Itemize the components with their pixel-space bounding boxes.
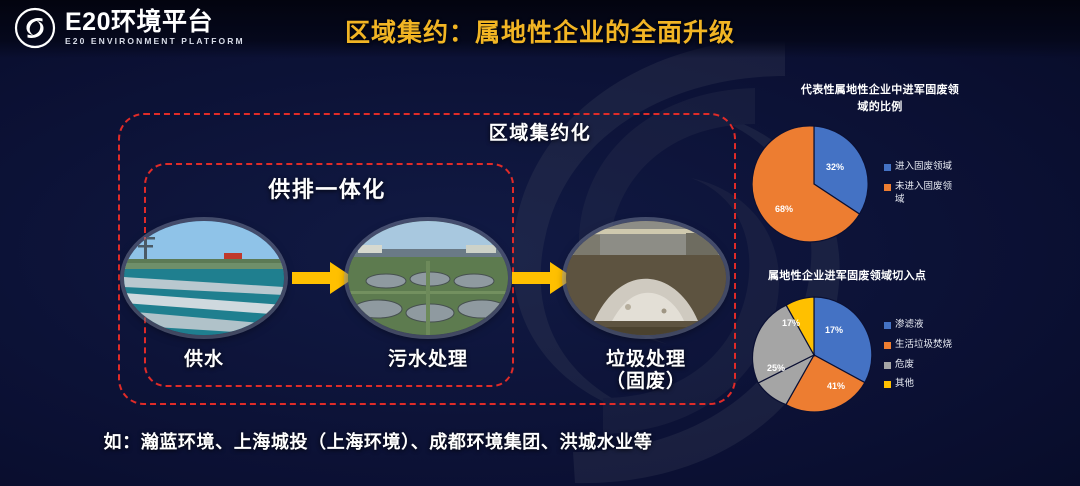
chart1-legend-item-1: 未进入固废领域	[884, 181, 957, 207]
chart1-slice-label-0: 32%	[826, 162, 844, 172]
solid-waste-photo	[566, 221, 726, 335]
chart2-legend-swatch-3	[884, 381, 891, 388]
chart2-legend-item-1: 生活垃圾焚烧	[884, 339, 952, 352]
slide-header: E20环境平台 E20 ENVIRONMENT PLATFORM 区域集约：属地…	[0, 0, 1080, 58]
chart1-legend: 进入固废领域 未进入固废领域	[884, 161, 957, 206]
chart1-legend-label-0: 进入固废领域	[895, 161, 952, 174]
stage-wastewater-treatment: 污水处理	[348, 221, 508, 371]
slide-canvas: E20环境平台 E20 ENVIRONMENT PLATFORM 区域集约：属地…	[0, 0, 1080, 486]
flow-arrow-1-icon	[292, 261, 354, 295]
chart2-legend: 渗滤液 生活垃圾焚烧 危废 其他	[884, 319, 952, 391]
chart1-legend-item-0: 进入固废领域	[884, 161, 957, 174]
chart1-pie: 32% 68%	[752, 122, 876, 246]
stage-label-solid-waste-line2: （固废）	[606, 371, 686, 392]
pie-chart-entry-points: 属地性企业进军固废领域切入点 17%	[752, 268, 1078, 438]
chart2-legend-item-0: 渗滤液	[884, 319, 952, 332]
chart2-legend-swatch-2	[884, 362, 891, 369]
chart2-slice-label-2: 25%	[767, 363, 785, 373]
examples-caption: 如：瀚蓝环境、上海城投（上海环境）、成都环境集团、洪城水业等	[0, 428, 756, 454]
chart1-slice-label-1: 68%	[775, 204, 793, 214]
page-title: 区域集约：属地性企业的全面升级	[0, 13, 1080, 49]
stage-label-water-supply: 供水	[124, 349, 284, 371]
chart2-pie: 17% 41% 25% 17%	[752, 293, 876, 417]
chart2-slice-label-0: 17%	[825, 325, 843, 335]
chart1-title: 代表性属地性企业中进军固废领 域的比例	[760, 82, 1000, 116]
chart2-legend-item-3: 其他	[884, 378, 952, 391]
wastewater-treatment-photo	[348, 221, 508, 335]
stage-label-solid-waste: 垃圾处理 （固废）	[566, 349, 726, 394]
chart2-legend-swatch-1	[884, 342, 891, 349]
chart2-legend-label-2: 危废	[895, 359, 914, 372]
chart1-title-line2: 域的比例	[857, 101, 902, 113]
inner-boundary-label: 供排一体化	[268, 177, 386, 202]
chart1-legend-swatch-0	[884, 164, 891, 171]
chart1-legend-label-1: 未进入固废领域	[895, 181, 957, 207]
chart2-title: 属地性企业进军固废领域切入点	[768, 268, 1068, 285]
chart2-legend-item-2: 危废	[884, 359, 952, 372]
chart2-slice-label-1: 41%	[827, 381, 845, 391]
stage-label-solid-waste-line1: 垃圾处理	[606, 349, 686, 370]
flow-arrow-2-icon	[512, 261, 574, 295]
outer-boundary-label: 区域集约化	[489, 123, 592, 144]
chart1-legend-swatch-1	[884, 184, 891, 191]
chart2-legend-label-3: 其他	[895, 378, 914, 391]
chart2-legend-label-1: 生活垃圾焚烧	[895, 339, 952, 352]
chart2-legend-swatch-0	[884, 322, 891, 329]
stage-solid-waste: 垃圾处理 （固废）	[566, 221, 726, 394]
pie-chart-solid-waste-entry-ratio: 代表性属地性企业中进军固废领 域的比例 32% 68% 进入固废领域	[752, 82, 1078, 252]
chart2-slice-label-3: 17%	[782, 318, 800, 328]
stage-label-wastewater: 污水处理	[348, 349, 508, 371]
water-supply-photo	[124, 221, 284, 335]
chart2-legend-label-0: 渗滤液	[895, 319, 924, 332]
chart1-title-line1: 代表性属地性企业中进军固废领	[801, 84, 959, 96]
inner-boundary-label-wrap: 供排一体化	[144, 172, 510, 204]
stage-water-supply: 供水	[124, 221, 284, 371]
